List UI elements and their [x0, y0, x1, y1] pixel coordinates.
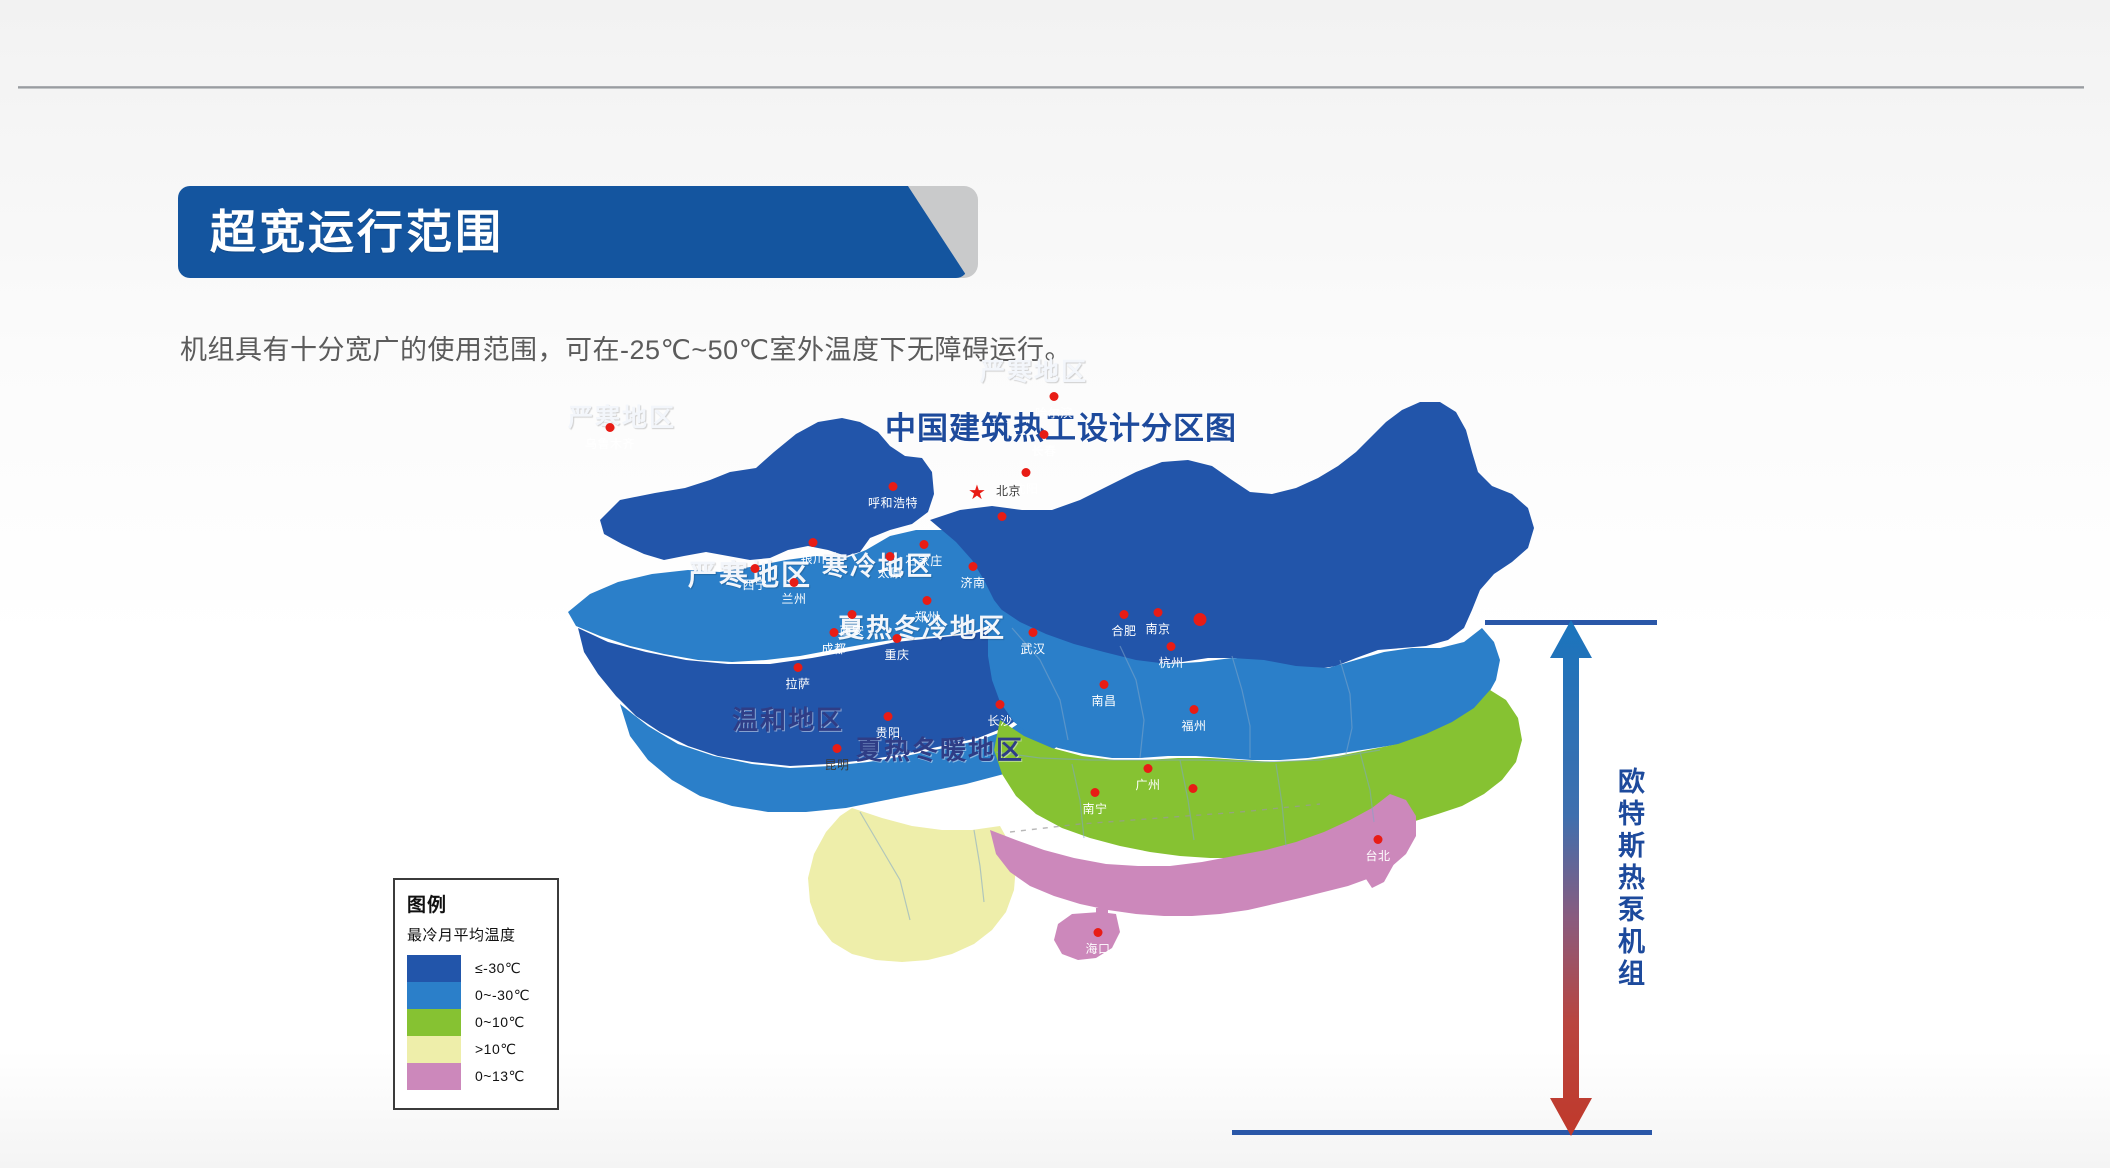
city-dot-icon: [893, 634, 902, 643]
city-dot-icon: [1154, 608, 1163, 617]
city-dot-icon: [848, 610, 857, 619]
legend-label: 0~-30℃: [475, 987, 530, 1004]
city-label: 海口: [1085, 940, 1110, 957]
city-label: 哈尔滨: [1035, 404, 1073, 421]
city-label: 南昌: [1091, 692, 1116, 709]
city-dot-icon: [889, 482, 898, 491]
city-dot-icon: [1100, 680, 1109, 689]
city-label: 昆明: [824, 756, 849, 773]
city-dot-icon: [606, 423, 615, 432]
city-dot-icon: [1029, 628, 1038, 637]
city-label: 济南: [960, 574, 985, 591]
city-dot-icon: [923, 596, 932, 605]
city-label: 西宁: [742, 576, 767, 593]
city-dot-icon: [1144, 764, 1153, 773]
region-shape-wenhe: [808, 808, 1016, 962]
page-title: 超宽运行范围: [210, 209, 504, 255]
city-label: 南京: [1145, 620, 1170, 637]
city-label: 北京: [996, 482, 1021, 499]
top-divider: [18, 86, 2084, 89]
city-dot-icon: [790, 578, 799, 587]
legend-swatch: [407, 955, 461, 982]
operating-range-indicator: 欧特斯热泵机组: [1230, 615, 1670, 1145]
city-dot-icon: [1040, 430, 1049, 439]
capital-star-icon: ★: [968, 483, 986, 503]
city-dot-icon: [886, 552, 895, 561]
legend-label: >10℃: [475, 1041, 516, 1058]
city-label: 成都: [821, 640, 846, 657]
city-label: 贵阳: [875, 724, 900, 741]
city-label: 石家庄: [905, 552, 943, 569]
city-dot-icon: [1050, 392, 1059, 401]
legend-swatch: [407, 1009, 461, 1036]
legend-item: 0~-30℃: [407, 982, 545, 1009]
city-dot-icon: [1120, 610, 1129, 619]
legend-item: 0~13℃: [407, 1063, 545, 1090]
city-dot-icon: [1091, 788, 1100, 797]
legend-rows: ≤-30℃ 0~-30℃ 0~10℃ >10℃ 0~13℃: [407, 955, 545, 1090]
city-dot-icon: [1167, 642, 1176, 651]
legend-label: 0~10℃: [475, 1014, 525, 1031]
city-dot-icon: [1022, 468, 1031, 477]
city-dot-icon: [998, 512, 1007, 521]
city-label: 兰州: [781, 590, 806, 607]
region-label-yanhan-xinjiang: 严寒地区: [568, 398, 676, 434]
city-dot-icon: [830, 628, 839, 637]
legend-swatch: [407, 1063, 461, 1090]
city-dot-icon: [920, 540, 929, 549]
city-dot-icon: [969, 562, 978, 571]
city-label: 长春: [1031, 442, 1056, 459]
city-label: 拉萨: [785, 675, 810, 692]
region-shape-leizhou: [1096, 908, 1108, 924]
city-label: 太原: [877, 564, 902, 581]
city-label: 重庆: [884, 646, 909, 663]
city-label: 杭州: [1158, 654, 1183, 671]
region-shape-yanhan-xinjiang: [600, 418, 934, 560]
city-dot-icon: [809, 538, 818, 547]
city-label: 广州: [1135, 776, 1160, 793]
city-label: 合肥: [1111, 622, 1136, 639]
city-dot-icon: [884, 712, 893, 721]
legend-swatch: [407, 1036, 461, 1063]
city-label: 郑州: [914, 608, 939, 625]
legend-title: 图例: [407, 890, 545, 917]
section-banner: 超宽运行范围: [178, 186, 998, 278]
legend-label: ≤-30℃: [475, 960, 521, 977]
map-legend: 图例 最冷月平均温度 ≤-30℃ 0~-30℃ 0~10℃ >10℃ 0~13℃: [393, 878, 559, 1110]
city-dot-icon: [1094, 928, 1103, 937]
city-label: 西安: [839, 622, 864, 639]
city-dot-icon: [1189, 784, 1198, 793]
city-dot-icon: [1194, 613, 1207, 626]
city-label: 福州: [1181, 717, 1206, 734]
legend-label: 0~13℃: [475, 1068, 525, 1085]
legend-item: ≤-30℃: [407, 955, 545, 982]
legend-swatch: [407, 982, 461, 1009]
city-label: 呼和浩特: [868, 494, 918, 511]
city-label: 银川: [800, 550, 825, 567]
region-label-wenhe: 温和地区: [732, 700, 844, 737]
city-dot-icon: [751, 564, 760, 573]
city-dot-icon: [996, 700, 1005, 709]
range-double-arrow-icon: [1547, 620, 1595, 1136]
page-root: 超宽运行范围 机组具有十分宽广的使用范围，可在-25℃~50℃室外温度下无障碍运…: [0, 0, 2110, 1168]
city-label: 乌鲁木齐: [585, 435, 635, 452]
legend-item: 0~10℃: [407, 1009, 545, 1036]
legend-subtitle: 最冷月平均温度: [407, 924, 545, 945]
city-label: 南宁: [1082, 800, 1107, 817]
legend-item: >10℃: [407, 1036, 545, 1063]
city-dot-icon: [833, 744, 842, 753]
region-label-yanhan-northeast: 严寒地区: [980, 352, 1088, 388]
range-vertical-label: 欧特斯热泵机组: [1615, 767, 1642, 991]
city-dot-icon: [794, 663, 803, 672]
city-label: 武汉: [1020, 640, 1045, 657]
city-dot-icon: [1190, 705, 1199, 714]
banner-blue-shape: 超宽运行范围: [178, 186, 968, 278]
city-label: 长沙: [987, 712, 1012, 729]
